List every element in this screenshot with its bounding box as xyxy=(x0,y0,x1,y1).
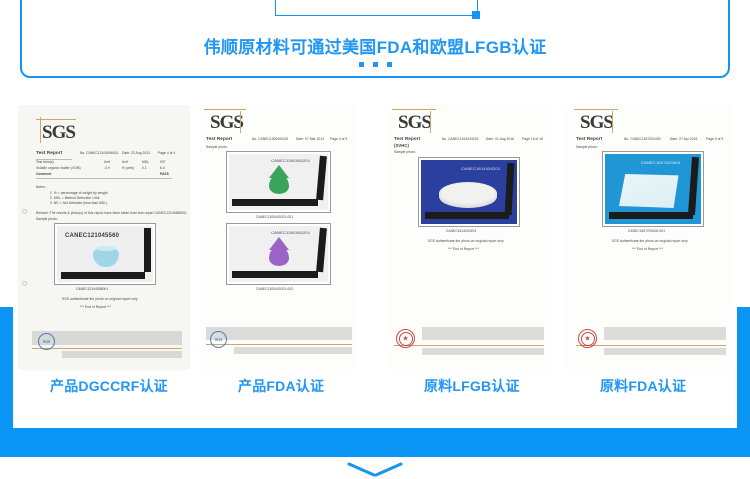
report-no: No. CANEC1607200400 xyxy=(624,137,661,141)
table-header: 007 xyxy=(160,160,166,164)
chevron-down-icon[interactable] xyxy=(345,462,405,478)
certificate-gallery: SGS Test Report No. CANEC12104556001 Dat… xyxy=(0,105,750,370)
certificate-card-1[interactable]: SGS Test Report No. CANEC1300400201 Date… xyxy=(200,105,358,370)
report-page: Page 16 of 16 xyxy=(522,137,543,141)
report-label: Test Report xyxy=(36,150,62,155)
report-date: Date: 01 Aug 2016 xyxy=(486,137,514,141)
sgs-logo: SGS xyxy=(210,113,243,132)
decor-dot-1 xyxy=(359,62,364,67)
frame-bar-right xyxy=(737,307,750,432)
photo-tag: CANEC1614034201 xyxy=(461,166,500,171)
decor-dot-2 xyxy=(373,62,378,67)
report-label: Test Report xyxy=(576,136,602,141)
certificate-caption-1: 产品FDA认证 xyxy=(238,376,324,396)
authenticate-note: SGS authenticate the photo on original r… xyxy=(62,297,138,301)
authenticate-note: SGS authenticate the photo on original r… xyxy=(612,239,688,243)
section-title-box: 证书资质 xyxy=(275,0,478,16)
certification-stamp: ★ xyxy=(396,329,415,348)
table-cell: % (w/w) xyxy=(122,166,134,170)
photo-caption: CANEC1300400201-002 xyxy=(256,287,293,291)
report-no: No. CANEC12104556001 xyxy=(80,151,119,155)
sgs-stamp: SGS xyxy=(210,331,227,348)
table-header: Test Item(s) xyxy=(36,160,54,164)
photo-tag: CANEC1300400201 xyxy=(271,230,310,235)
report-page: Page 5 of 5 xyxy=(706,137,723,141)
punch-hole xyxy=(22,209,27,214)
sgs-logo: SGS xyxy=(580,113,613,132)
end-note: *** End of Report *** xyxy=(448,247,479,251)
sample-label: Sample photo: xyxy=(394,150,416,154)
photo-tag: CANEC1300400201 xyxy=(271,158,310,163)
sample-photo-frame: CANEC1614034201 xyxy=(418,157,520,227)
photo-tag: CANEC121045560 xyxy=(65,233,119,239)
report-page: Page 4 of 5 xyxy=(330,137,347,141)
punch-hole xyxy=(22,281,27,286)
report-date: Date: 27 Apr 2016 xyxy=(670,137,697,141)
sample-object-drop-purple xyxy=(269,246,289,266)
remark: Remark: The results & photo(s) of this r… xyxy=(36,211,187,215)
sample-photo-frame: CANEC1300400201 xyxy=(226,151,331,213)
sample-label: Sample photo: xyxy=(36,217,58,221)
page-subtitle: 伟顺原材料可通过美国FDA和欧盟LFGB认证 xyxy=(0,33,750,58)
table-cell: Volatile organic matter (VOM) xyxy=(36,166,81,170)
sample-object-drop-green xyxy=(269,174,289,194)
star-icon: ★ xyxy=(402,335,408,342)
sample-object-pad xyxy=(439,182,497,208)
certificate-card-3[interactable]: SGS Test Report No. CANEC1607200400 Date… xyxy=(566,105,734,370)
decor-dot-3 xyxy=(387,62,392,67)
photo-tag: CANEC1607200400 xyxy=(641,160,680,165)
table-cell: 0.1 xyxy=(142,166,147,170)
certificate-caption-2: 原料LFGB认证 xyxy=(424,376,520,396)
end-note: *** End of Report *** xyxy=(80,305,111,309)
certificate-card-0[interactable]: SGS Test Report No. CANEC12104556001 Dat… xyxy=(18,105,190,370)
ruler-horizontal xyxy=(232,271,318,278)
photo-caption: CANEC1607200400-001 xyxy=(628,229,665,233)
photo-caption: CANEC1614034201 xyxy=(446,229,476,233)
decor-dots xyxy=(0,62,750,67)
certificate-captions: 产品DGCCRF认证 产品FDA认证 原料LFGB认证 原料FDA认证 xyxy=(0,376,750,398)
conclusion-label: Comment xyxy=(36,172,51,176)
notes-label: Notes : xyxy=(36,185,47,189)
report-date: Date: 07 Mar 2013 xyxy=(296,137,324,141)
end-note: *** End of Report *** xyxy=(632,247,663,251)
sgs-logo: SGS xyxy=(42,123,75,142)
photo-caption: CANEC1300400201-001 xyxy=(256,215,293,219)
table-header: Unit xyxy=(104,160,110,164)
certification-stamp: ★ xyxy=(578,329,597,348)
frame-bar-left xyxy=(0,307,13,432)
report-no: No. CANEC1300400201 xyxy=(252,137,289,141)
frame-bar-bottom xyxy=(0,428,750,457)
report-label: Test Report xyxy=(206,136,232,141)
table-cell: 6.4 xyxy=(160,166,165,170)
ruler-horizontal xyxy=(609,212,693,219)
certificate-caption-0: 产品DGCCRF认证 xyxy=(50,376,168,396)
note-item: 2. MDL = Method Detection Limit xyxy=(50,196,100,200)
note-item: 1. % = percentage of weight by weight xyxy=(50,191,108,195)
ruler-horizontal xyxy=(425,212,509,219)
sgs-stamp: SGS xyxy=(38,333,55,350)
sgs-logo: SGS xyxy=(398,113,431,132)
sample-photo-frame: CANEC1300400201 xyxy=(226,223,331,285)
star-icon: ★ xyxy=(584,335,590,342)
sample-photo-frame: CANEC121045560 xyxy=(54,223,156,285)
table-header: Unit xyxy=(122,160,128,164)
report-no: No. CANEC1614034201 xyxy=(442,137,479,141)
note-item: 3. ND = Not Detected (less than MDL) xyxy=(50,201,107,205)
photo-caption: CANEC12104556001 xyxy=(76,287,108,291)
sample-label: Sample photo: xyxy=(206,145,228,149)
ruler-vertical xyxy=(144,228,151,272)
authenticate-note: SGS authenticate the photo on original r… xyxy=(428,239,504,243)
certificate-card-2[interactable]: SGS Test Report (SVHC) No. CANEC16140342… xyxy=(386,105,552,370)
sample-object-sheet xyxy=(619,174,681,208)
ruler-horizontal xyxy=(232,199,318,206)
report-date: Date: 23 Aug 2012 xyxy=(122,151,150,155)
conclusion-value: PASS xyxy=(160,172,169,176)
certificate-caption-3: 原料FDA认证 xyxy=(600,376,686,396)
sample-photo-frame: CANEC1607200400 xyxy=(602,151,704,227)
table-cell: -4 h xyxy=(104,166,110,170)
sample-label: Sample photo: xyxy=(576,145,598,149)
report-label-sub: (SVHC) xyxy=(394,143,409,148)
ruler-horizontal xyxy=(61,272,145,279)
report-label: Test Report xyxy=(394,136,420,141)
table-header: MDL xyxy=(142,160,149,164)
title-corner-marker xyxy=(472,11,480,19)
report-page: Page 4 of 4 xyxy=(158,151,175,155)
